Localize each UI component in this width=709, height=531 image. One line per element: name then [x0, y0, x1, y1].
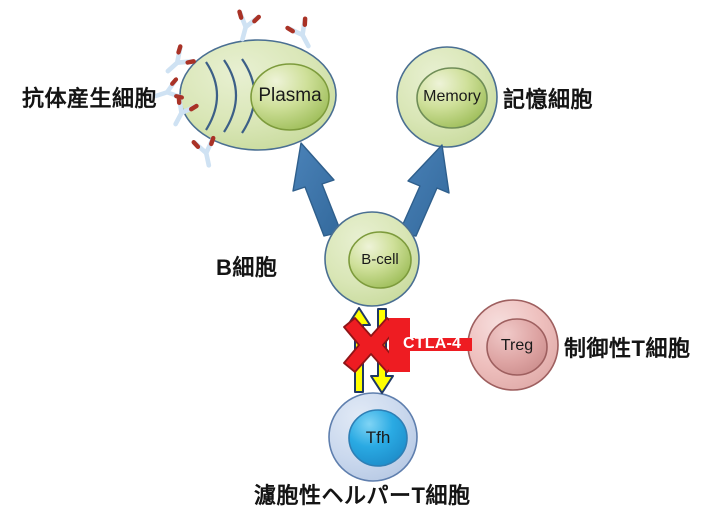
memory-cell-label: 記憶細胞 [503, 82, 593, 114]
antibody-icon [194, 138, 219, 167]
treg-cell-label: 制御性T細胞 [564, 331, 690, 363]
memory-nucleus-label: Memory [412, 88, 492, 106]
tfh-cell-label: 濾胞性ヘルパーT細胞 [254, 478, 470, 510]
antibody-icon [233, 12, 259, 42]
plasma-nucleus-label: Plasma [250, 85, 330, 107]
tfh-nucleus-label: Tfh [343, 428, 413, 448]
differentiation-arrow-to-plasma [293, 143, 341, 236]
ctla4-label: CTLA-4 [403, 335, 461, 353]
differentiation-arrow-to-memory [399, 145, 449, 236]
plasma-cell-label: 抗体産生細胞 [22, 81, 157, 113]
b-cell-nucleus-label: B-cell [345, 251, 415, 268]
treg-nucleus-label: Treg [482, 337, 552, 355]
b-cell-label: B細胞 [216, 250, 277, 282]
